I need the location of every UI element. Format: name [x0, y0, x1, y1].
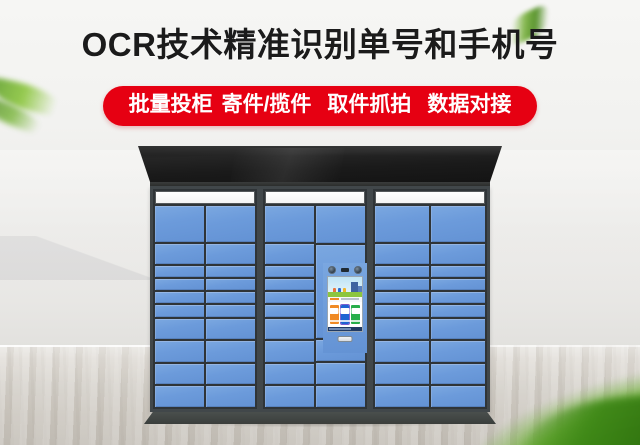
page-title: OCR技术精准识别单号和手机号 — [0, 24, 640, 66]
screen-title-text — [341, 298, 359, 300]
canopy-highlight — [230, 148, 345, 182]
screen-action-buttons — [328, 302, 362, 327]
door-column — [375, 206, 429, 407]
locker-door[interactable] — [431, 206, 485, 242]
banner-canvas: OCR技术精准识别单号和手机号 批量投柜寄件/揽件取件抓拍数据对接 — [0, 0, 640, 445]
kiosk-touchscreen[interactable] — [327, 276, 363, 332]
locker-door[interactable] — [265, 244, 314, 264]
screen-button-pickup[interactable] — [341, 305, 350, 324]
camera-icon-right — [354, 266, 362, 274]
locker-door[interactable] — [206, 266, 255, 277]
camera-icon-left — [328, 266, 336, 274]
locker-door[interactable] — [431, 266, 485, 277]
smart-locker-cabinet — [150, 146, 490, 421]
locker-door[interactable] — [375, 266, 429, 277]
screen-title-accent — [330, 298, 339, 300]
locker-door[interactable] — [431, 292, 485, 303]
locker-door[interactable] — [375, 305, 429, 316]
feature-label-1: 批量投柜 — [129, 91, 213, 119]
locker-door[interactable] — [375, 364, 429, 385]
locker-door[interactable] — [155, 305, 204, 316]
feature-label-2: 寄件/揽件 — [222, 91, 312, 119]
door-column — [431, 206, 485, 407]
door-column — [155, 206, 204, 407]
door-column — [265, 206, 314, 407]
locker-door[interactable] — [206, 386, 255, 407]
locker-door[interactable] — [155, 319, 204, 340]
locker-door[interactable] — [265, 386, 314, 407]
locker-door[interactable] — [375, 279, 429, 290]
locker-door[interactable] — [375, 319, 429, 340]
locker-door[interactable] — [155, 266, 204, 277]
screen-button-send[interactable] — [330, 305, 339, 324]
locker-door[interactable] — [431, 305, 485, 316]
door-grid-right — [375, 206, 485, 407]
feature-label-4: 数据对接 — [427, 91, 511, 119]
locker-door[interactable] — [431, 279, 485, 290]
locker-door[interactable] — [206, 292, 255, 303]
locker-door[interactable] — [316, 363, 365, 384]
locker-door[interactable] — [375, 244, 429, 264]
locker-door[interactable] — [431, 386, 485, 407]
locker-door[interactable] — [206, 341, 255, 362]
locker-door[interactable] — [375, 206, 429, 242]
locker-door[interactable] — [155, 206, 204, 242]
locker-door[interactable] — [155, 292, 204, 303]
locker-door[interactable] — [206, 244, 255, 264]
header-strip-center — [265, 191, 365, 204]
kiosk-terminal[interactable] — [323, 263, 367, 353]
locker-door[interactable] — [265, 341, 314, 362]
locker-door[interactable] — [431, 319, 485, 340]
screen-footer-bar — [328, 327, 362, 331]
locker-door[interactable] — [265, 319, 314, 340]
locker-door[interactable] — [265, 279, 314, 290]
locker-door[interactable] — [375, 341, 429, 362]
header-strip-left — [155, 191, 255, 204]
locker-door[interactable] — [316, 386, 365, 407]
screen-button-query[interactable] — [351, 305, 360, 324]
locker-door[interactable] — [265, 364, 314, 385]
sensor-row — [323, 266, 367, 274]
locker-canopy-roof — [138, 146, 502, 184]
feature-pill-banner: 批量投柜寄件/揽件取件抓拍数据对接 — [103, 86, 538, 126]
locker-section-right — [373, 189, 487, 409]
locker-door[interactable] — [155, 341, 204, 362]
locker-door[interactable] — [206, 279, 255, 290]
locker-door[interactable] — [375, 386, 429, 407]
locker-body-frame — [150, 186, 490, 412]
locker-section-left — [153, 189, 257, 409]
screen-title-bar — [328, 297, 362, 302]
locker-door[interactable] — [431, 244, 485, 264]
locker-door[interactable] — [265, 266, 314, 277]
locker-door[interactable] — [155, 364, 204, 385]
barcode-scanner-slot[interactable] — [338, 336, 353, 342]
locker-door[interactable] — [155, 244, 204, 264]
feature-pill-wrapper: 批量投柜寄件/揽件取件抓拍数据对接 — [0, 86, 640, 126]
door-grid-left — [155, 206, 255, 407]
locker-door[interactable] — [155, 386, 204, 407]
locker-door[interactable] — [316, 206, 365, 243]
locker-door[interactable] — [431, 364, 485, 385]
locker-door[interactable] — [155, 279, 204, 290]
feature-label-3: 取件抓拍 — [327, 91, 411, 119]
locker-door[interactable] — [265, 305, 314, 316]
locker-door[interactable] — [265, 206, 314, 242]
infrared-sensor-icon — [341, 268, 349, 272]
locker-door[interactable] — [431, 341, 485, 362]
locker-door[interactable] — [206, 305, 255, 316]
locker-door[interactable] — [206, 319, 255, 340]
screen-promo-banner — [328, 277, 362, 297]
locker-door[interactable] — [206, 206, 255, 242]
cabinet-ground-shadow — [126, 418, 516, 429]
header-strip-right — [375, 191, 485, 204]
locker-door[interactable] — [375, 292, 429, 303]
locker-door[interactable] — [206, 364, 255, 385]
locker-door[interactable] — [265, 292, 314, 303]
door-column — [206, 206, 255, 407]
